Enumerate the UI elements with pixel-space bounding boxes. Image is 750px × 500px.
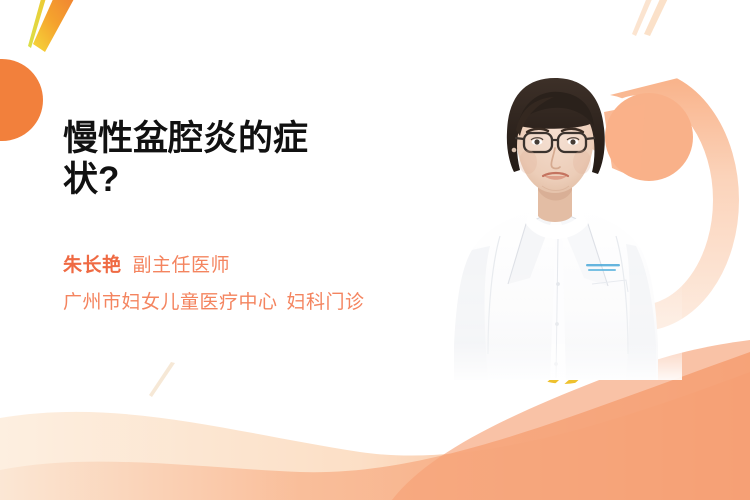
head — [507, 78, 605, 193]
doctor-portrait-svg — [430, 78, 682, 380]
bottom-left-thin-line — [149, 362, 175, 397]
page-title: 慢性盆腔炎的症状? — [63, 118, 358, 201]
hospital-name: 广州市妇女儿童医疗中心 — [63, 292, 278, 313]
doctor-name: 朱长艳 — [63, 255, 122, 276]
left-orange-circle — [0, 59, 43, 141]
doctor-title: 副主任医师 — [133, 255, 231, 276]
top-right-light-stripes — [632, 0, 672, 36]
slide-canvas: 慢性盆腔炎的症状? 朱长艳副主任医师 广州市妇女儿童医疗中心妇科门诊 — [0, 0, 750, 500]
text-block: 慢性盆腔炎的症状? 朱长艳副主任医师 广州市妇女儿童医疗中心妇科门诊 — [63, 118, 403, 312]
doctor-photo — [430, 78, 682, 380]
photo-bottom-fade — [430, 258, 682, 380]
top-left-gradient-stripe — [33, 0, 80, 52]
bottom-wave-cream — [0, 372, 750, 500]
affiliation: 广州市妇女儿童医疗中心妇科门诊 — [63, 293, 403, 313]
byline: 朱长艳副主任医师 — [63, 256, 403, 276]
department-name: 妇科门诊 — [287, 292, 365, 313]
top-left-thin-line — [28, 0, 49, 48]
